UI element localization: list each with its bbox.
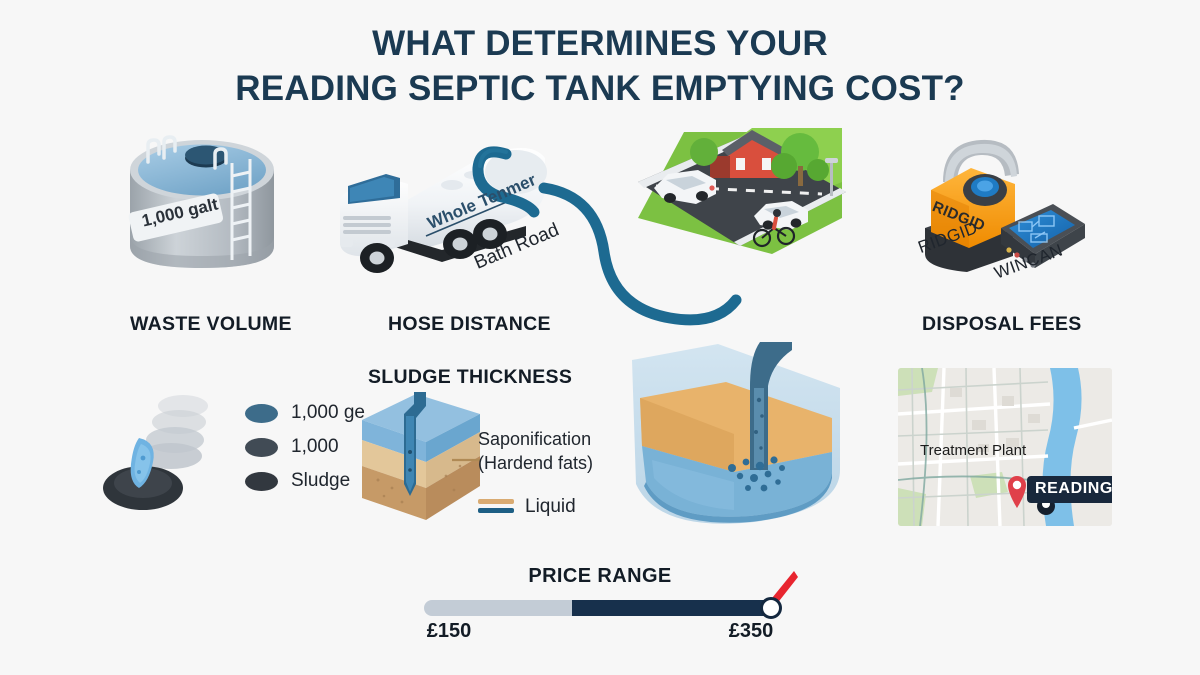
tank-cross-section-illustration (622, 342, 850, 534)
road-scene-illustration (632, 122, 852, 287)
title-line-2: READING SEPTIC TANK EMPTYING COST? (0, 67, 1200, 112)
legend-item: Sludge (245, 464, 365, 498)
legend-item: 1,000 ge (245, 396, 365, 430)
label-hose-distance: HOSE DISTANCE (388, 313, 551, 336)
waste-volume-illustration: 1,000 galt (118, 118, 308, 293)
sludge-measure-illustration: 1,000 ge 1,000 Sludge (105, 388, 335, 513)
liquid-swatch (478, 499, 514, 515)
legend-swatch (245, 438, 278, 457)
legend-label: 1,000 (291, 436, 339, 458)
map-treatment-plant-label: Treatment Plant (920, 442, 1026, 459)
slider-handle[interactable] (760, 597, 782, 619)
sludge-legend: 1,000 ge 1,000 Sludge (245, 396, 365, 498)
liquid-label: Liquid (525, 496, 576, 518)
title-line-1: WHAT DETERMINES YOUR (372, 24, 828, 63)
price-max-label: £350 (706, 620, 796, 643)
slider-fill (572, 600, 776, 616)
legend-swatch (245, 472, 278, 491)
label-waste-volume: WASTE VOLUME (130, 313, 292, 336)
legend-swatch (245, 404, 278, 423)
legend-label: Sludge (291, 470, 350, 492)
price-range-title: PRICE RANGE (0, 565, 1200, 588)
treatment-plant-map[interactable]: Treatment Plant READING (898, 368, 1112, 526)
price-min-label: £150 (404, 620, 494, 643)
price-range-slider[interactable] (424, 597, 776, 619)
label-disposal-fees: DISPOSAL FEES (922, 313, 1082, 336)
map-city-badge: READING (1027, 476, 1112, 503)
page-title: WHAT DETERMINES YOUR READING SEPTIC TANK… (0, 22, 1200, 112)
infographic-canvas: WHAT DETERMINES YOUR READING SEPTIC TANK… (0, 0, 1200, 675)
legend-item: 1,000 (245, 430, 365, 464)
legend-label: 1,000 ge (291, 402, 365, 424)
label-sludge-thickness: SLUDGE THICKNESS (368, 366, 572, 389)
